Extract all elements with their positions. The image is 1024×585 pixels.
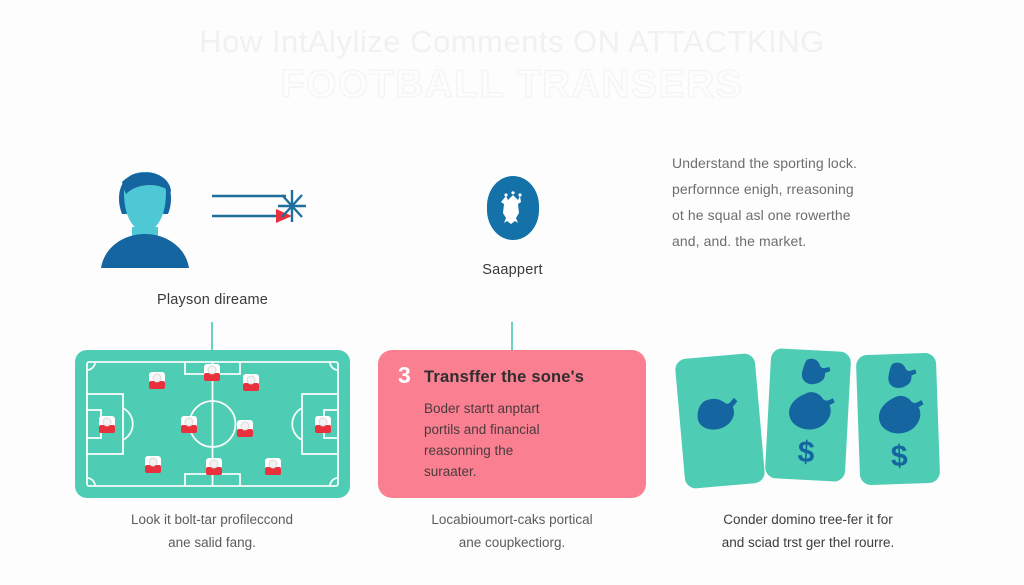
caption-right: Conder domino tree-fer it for and sciad … <box>668 508 948 554</box>
person-avatar-icon <box>90 164 200 277</box>
transfer-card-1 <box>674 353 765 489</box>
top-row: Playson direame Saappert Understand the … <box>0 150 1024 340</box>
paragraph-line-1: Understand the sporting lock. <box>672 150 947 176</box>
title-line-1: How IntAlylize Comments ON ATTACTKING <box>0 22 1024 62</box>
caption-center-line-2: ane coupkectiorg. <box>372 531 652 554</box>
paragraph-line-2: perfornnce enigh, rreasoning <box>672 176 947 202</box>
paragraph-line-3: ot he squal asl one rowerthe <box>672 202 947 228</box>
connector-line-center <box>511 322 513 350</box>
caption-center-line-1: Locabioumort-caks portical <box>372 508 652 531</box>
node-support: Saappert <box>375 150 650 278</box>
step-title: Transffer the sone's <box>424 366 626 388</box>
transfer-card-2: $ <box>765 348 852 482</box>
caption-center: Locabioumort-caks portical ane coupkecti… <box>372 508 652 554</box>
transfer-step-card: 3 Transffer the sone's Boder startt anpt… <box>378 350 646 498</box>
step-number: 3 <box>398 364 411 387</box>
svg-text:$: $ <box>797 436 816 470</box>
caption-left: Look it bolt-tar profileccond ane salid … <box>72 508 352 554</box>
transfer-cards-stack: $ $ <box>672 346 952 506</box>
avatar-illustration <box>75 150 350 270</box>
arrows-to-target-icon <box>210 182 310 243</box>
step-body-line-1: Boder startt anptart <box>424 398 626 419</box>
captions-row: Look it bolt-tar profileccond ane salid … <box>0 508 1024 568</box>
infographic-canvas: How IntAlylize Comments ON ATTACTKING FO… <box>0 0 1024 585</box>
node-player-dream: Playson direame <box>75 150 350 308</box>
step-body-line-4: suraater. <box>424 461 626 482</box>
svg-text:$: $ <box>890 440 908 474</box>
node-label-center: Saappert <box>375 262 650 278</box>
title-line-2: FOOTBALL TRANSERS <box>0 62 1024 108</box>
node-label-left: Playson direame <box>75 292 350 308</box>
caption-left-line-1: Look it bolt-tar profileccond <box>72 508 352 531</box>
player-markers <box>99 364 331 475</box>
connector-line-left <box>211 322 213 350</box>
bottom-row: 3 Transffer the sone's Boder startt anpt… <box>0 350 1024 510</box>
step-body: Boder startt anptart portils and financi… <box>424 398 626 482</box>
step-body-line-2: portils and financial <box>424 419 626 440</box>
caption-left-line-2: ane salid fang. <box>72 531 352 554</box>
football-pitch-diagram <box>75 350 350 498</box>
page-title: How IntAlylize Comments ON ATTACTKING FO… <box>0 22 1024 108</box>
caption-right-line-2: and sciad trst ger thel rourre. <box>668 531 948 554</box>
transfer-card-3: $ <box>856 353 940 486</box>
caption-right-line-1: Conder domino tree-fer it for <box>668 508 948 531</box>
paragraph-line-4: and, and. the market. <box>672 228 947 254</box>
step-body-line-3: reasonning the <box>424 440 626 461</box>
paragraph-text: Understand the sporting lock. perfornnce… <box>672 150 947 254</box>
crest-badge-icon <box>487 176 539 240</box>
intro-paragraph: Understand the sporting lock. perfornnce… <box>672 150 947 254</box>
